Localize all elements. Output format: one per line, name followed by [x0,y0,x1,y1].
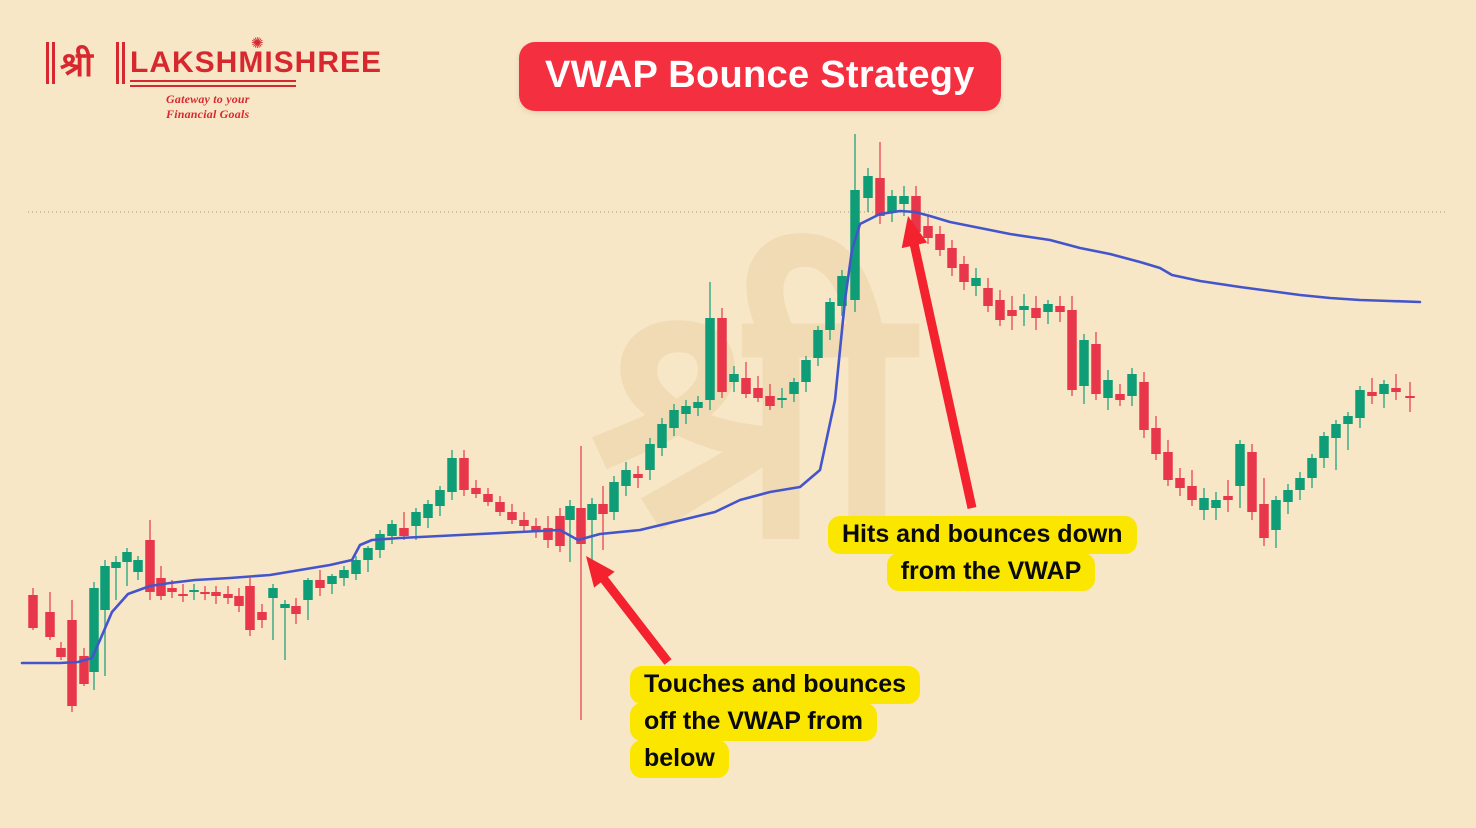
logo-brand-name: LAKSHMISHREE [130,46,382,80]
annotation-arrows [586,216,972,662]
screenshot-root: श्री श्री ✺ LAKSHMISHREE Gateway to your… [0,0,1476,828]
logo-tagline: Gateway to your Financial Goals [166,92,296,122]
logo-devanagari-mark: श्री [60,40,93,86]
annotation-touches-and-bounces-off: Touches and bounces off the VWAP from be… [630,666,930,777]
annotation-line: below [630,740,729,778]
candlestick-series [28,134,1415,720]
lakshmishree-logo[interactable]: श्री ✺ LAKSHMISHREE Gateway to your Fina… [46,36,296,108]
page-title: VWAP Bounce Strategy [519,42,1001,111]
annotation-hits-and-bounces-down: Hits and bounces down from the VWAP [828,516,1154,590]
annotation-line: Hits and bounces down [828,516,1137,554]
annotation-line: Touches and bounces [630,666,920,704]
annotation-line: from the VWAP [887,553,1096,591]
annotation-line: off the VWAP from [630,703,877,741]
